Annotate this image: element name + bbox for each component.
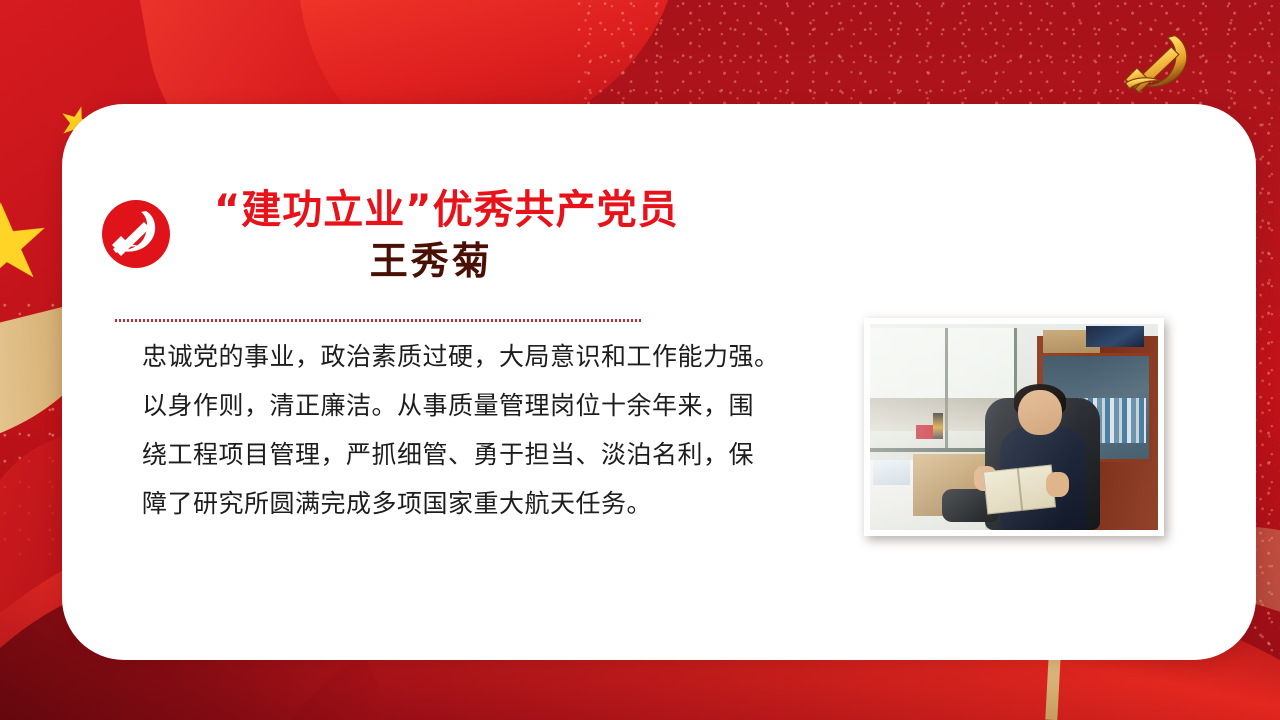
photo-monitor <box>1086 326 1144 347</box>
photo-papers <box>873 460 910 485</box>
hammer-sickle-gold-emblem-icon <box>1108 28 1204 106</box>
portrait-photo-frame <box>864 318 1164 536</box>
photo-person-hand-right <box>1046 472 1069 497</box>
content-card: “建功立业”优秀共产党员 王秀菊 忠诚党的事业，政治素质过硬，大局意识和工作能力… <box>62 104 1256 660</box>
dotted-divider <box>115 319 643 322</box>
person-name: 王秀菊 <box>214 239 679 284</box>
portrait-photo <box>870 324 1158 530</box>
party-emblem-badge-icon <box>100 198 172 270</box>
page-title: “建功立业”优秀共产党员 <box>214 186 679 235</box>
photo-person-head <box>1018 390 1061 435</box>
photo-red-object <box>916 425 933 439</box>
body-line-4: 障了研究所圆满完成多项国家重大航天任务。 <box>142 479 854 528</box>
star-large-icon <box>0 198 52 293</box>
title-group: “建功立业”优秀共产党员 王秀菊 <box>214 186 679 284</box>
header-row: “建功立业”优秀共产党员 王秀菊 <box>100 186 679 284</box>
photo-bottle <box>933 413 943 440</box>
body-line-1: 忠诚党的事业，政治素质过硬，大局意识和工作能力强。 <box>142 332 854 381</box>
body-paragraph: 忠诚党的事业，政治素质过硬，大局意识和工作能力强。 以身作则，清正廉洁。从事质量… <box>142 332 854 528</box>
body-line-2: 以身作则，清正廉洁。从事质量管理岗位十余年来，围 <box>142 381 854 430</box>
slide-canvas: “建功立业”优秀共产党员 王秀菊 忠诚党的事业，政治素质过硬，大局意识和工作能力… <box>0 0 1280 720</box>
body-line-3: 绕工程项目管理，严抓细管、勇于担当、淡泊名利，保 <box>142 430 854 479</box>
